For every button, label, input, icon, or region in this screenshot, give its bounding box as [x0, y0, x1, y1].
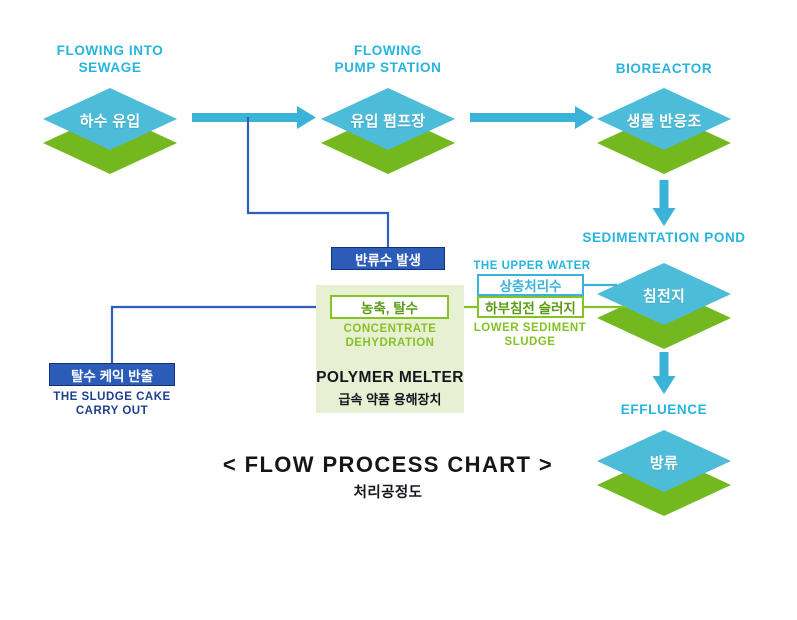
box-upper-water[interactable]: 상층처리수: [477, 274, 584, 296]
flow-process-chart: FLOWING INTO SEWAGE FLOWING PUMP STATION…: [0, 0, 797, 620]
stage-caption-flowing-pump-station: FLOWING PUMP STATION: [298, 42, 478, 76]
polymer-melter-korean: 급속 약품 용해장치: [315, 389, 465, 408]
box-caption-lower-sediment-sludge: LOWER SEDIMENT SLUDGE: [460, 321, 600, 349]
connector-sludge-cake: [112, 307, 330, 363]
diamond-label-bioreactor: 생물 반응조: [574, 110, 754, 131]
stage-caption-flowing-into-sewage: FLOWING INTO SEWAGE: [20, 42, 200, 76]
box-caption-sludge-cake-carry-out: THE SLUDGE CAKE CARRY OUT: [37, 390, 187, 418]
diamond-effluence: [597, 430, 731, 516]
box-sludge-cake-carry-out[interactable]: 탈수 케익 반출: [49, 363, 175, 386]
diamond-label-flowing-pump-station: 유입 펌프장: [298, 110, 478, 131]
box-return-water[interactable]: 반류수 발생: [331, 247, 445, 270]
diamond-label-sedimentation-pond: 침전지: [574, 285, 754, 306]
stage-caption-sedimentation-pond: SEDIMENTATION POND: [574, 229, 754, 246]
box-concentrate-dehydration[interactable]: 농축, 탈수: [330, 295, 449, 319]
arrow-sedimentation-to-effluence: [653, 352, 676, 394]
polymer-melter-english: POLYMER MELTER: [315, 369, 465, 387]
stage-caption-bioreactor: BIOREACTOR: [574, 60, 754, 77]
diamond-label-flowing-into-sewage: 하수 유입: [20, 110, 200, 131]
diamond-bioreactor: [597, 88, 731, 174]
box-caption-upper-water: THE UPPER WATER: [462, 259, 602, 273]
box-caption-concentrate-dehydration: CONCENTRATE DEHYDRATION: [315, 322, 465, 350]
diamond-flowing-pump-station: [321, 88, 455, 174]
diamond-label-effluence: 방류: [574, 452, 754, 473]
box-lower-sediment-sludge[interactable]: 하부침전 슬러지: [477, 296, 584, 318]
chart-title-korean: 처리공정도: [188, 481, 588, 502]
chart-title-english: < FLOW PROCESS CHART >: [188, 452, 588, 478]
stage-caption-effluence: EFFLUENCE: [574, 401, 754, 418]
arrow-bioreactor-to-sedimentation: [653, 180, 676, 226]
diamond-flowing-into-sewage: [43, 88, 177, 174]
